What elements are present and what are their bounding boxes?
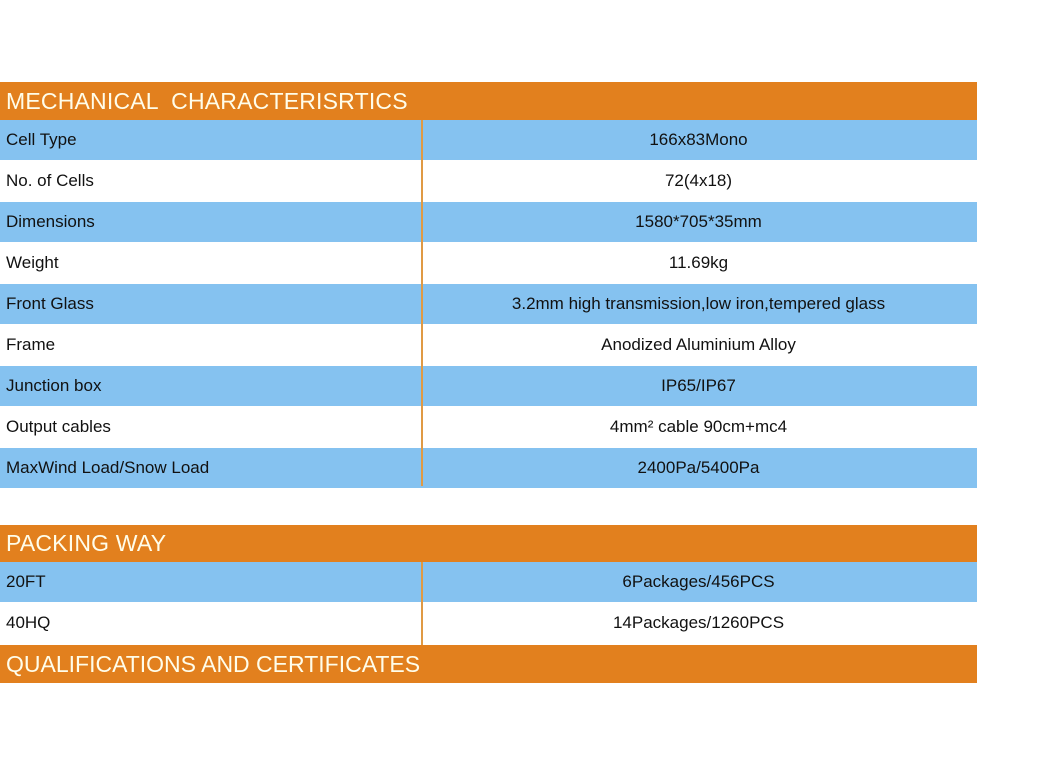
packing-way-table: PACKING WAY 20FT 6Packages/456PCS 40HQ 1… [0,525,977,643]
table-row: MaxWind Load/Snow Load 2400Pa/5400Pa [0,448,977,488]
table-row: No. of Cells 72(4x18) [0,161,977,201]
qualifications-section-header: QUALIFICATIONS AND CERTIFICATES [0,645,977,683]
table-row: Front Glass 3.2mm high transmission,low … [0,284,977,324]
row-value: 72(4x18) [422,171,977,191]
row-label: 20FT [0,572,422,592]
row-value: IP65/IP67 [422,376,977,396]
table-row: Junction box IP65/IP67 [0,366,977,406]
mechanical-section-header: MECHANICAL CHARACTERISRTICS [0,82,977,120]
row-label: Front Glass [0,294,422,314]
row-label: MaxWind Load/Snow Load [0,458,422,478]
row-label: Frame [0,335,422,355]
table-row: Weight 11.69kg [0,243,977,283]
row-label: 40HQ [0,613,422,633]
table-row: 40HQ 14Packages/1260PCS [0,603,977,643]
column-divider [421,562,423,645]
row-label: Cell Type [0,130,422,150]
row-label: Dimensions [0,212,422,232]
table-row: Frame Anodized Aluminium Alloy [0,325,977,365]
row-label: Output cables [0,417,422,437]
row-value: 4mm² cable 90cm+mc4 [422,417,977,437]
row-value: 1580*705*35mm [422,212,977,232]
row-value: 3.2mm high transmission,low iron,tempere… [422,294,977,314]
packing-section-header: PACKING WAY [0,525,977,562]
row-value: 166x83Mono [422,130,977,150]
mechanical-characteristics-table: MECHANICAL CHARACTERISRTICS Cell Type 16… [0,82,977,488]
datasheet-page: MECHANICAL CHARACTERISRTICS Cell Type 16… [0,0,1060,766]
row-value: 11.69kg [422,253,977,273]
row-value: 6Packages/456PCS [422,572,977,592]
row-label: Junction box [0,376,422,396]
table-row: 20FT 6Packages/456PCS [0,562,977,602]
row-value: 14Packages/1260PCS [422,613,977,633]
table-row: Cell Type 166x83Mono [0,120,977,160]
row-label: No. of Cells [0,171,422,191]
table-row: Dimensions 1580*705*35mm [0,202,977,242]
row-value: 2400Pa/5400Pa [422,458,977,478]
row-label: Weight [0,253,422,273]
column-divider [421,120,423,486]
table-row: Output cables 4mm² cable 90cm+mc4 [0,407,977,447]
row-value: Anodized Aluminium Alloy [422,335,977,355]
